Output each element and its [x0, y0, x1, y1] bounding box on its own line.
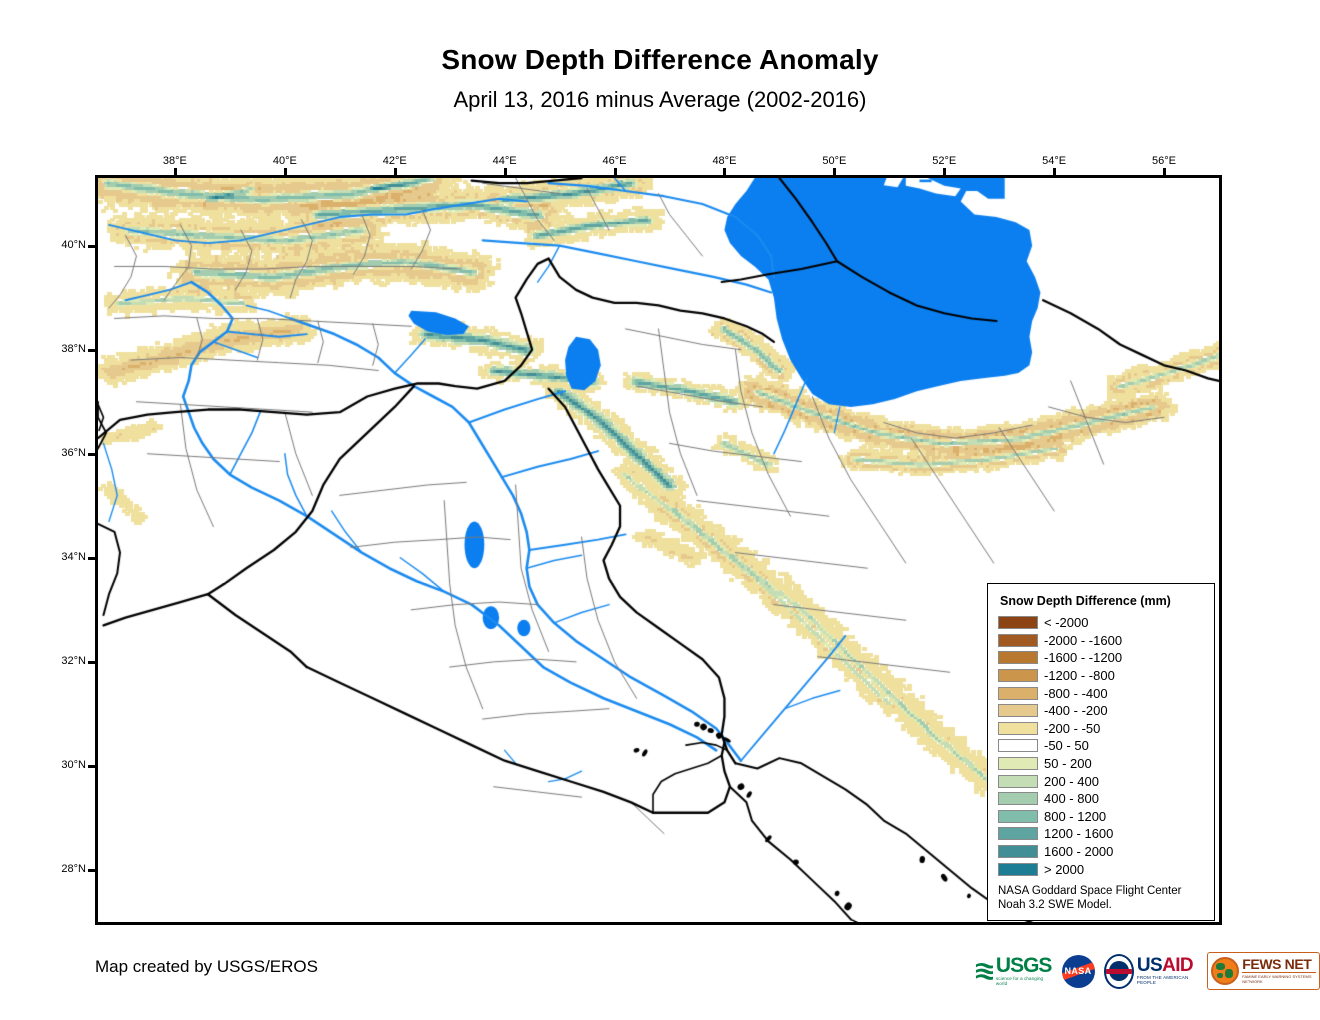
legend-label: -1200 - -800 [1044, 669, 1115, 682]
longitude-tick-label: 38°E [145, 155, 205, 167]
legend-swatch [998, 739, 1038, 752]
legend-title: Snow Depth Difference (mm) [1000, 594, 1214, 608]
usgs-tagline: science for a changing world [996, 976, 1053, 986]
legend-swatch [998, 810, 1038, 823]
legend-label: -200 - -50 [1044, 722, 1100, 735]
legend-row: 50 - 200 [998, 755, 1214, 773]
legend-label: -800 - -400 [1044, 687, 1108, 700]
legend-swatch [998, 845, 1038, 858]
fewsnet-wordmark: FEWS NET [1242, 958, 1316, 971]
usaid-us: US [1137, 955, 1162, 976]
nasa-wordmark: NASA [1064, 966, 1091, 976]
legend-row: > 2000 [998, 860, 1214, 878]
usaid-wordmark: USAID [1137, 957, 1198, 975]
legend-swatch [998, 669, 1038, 682]
legend-swatch [998, 634, 1038, 647]
longitude-tick-label: 56°E [1134, 155, 1194, 167]
longitude-tick-label: 48°E [694, 155, 754, 167]
nasa-meatball-icon: NASA [1062, 955, 1095, 988]
longitude-tick-label: 46°E [585, 155, 645, 167]
usaid-aid: AID [1162, 955, 1193, 976]
legend-source-note: NASA Goddard Space Flight Center Noah 3.… [998, 885, 1181, 912]
legend-row: -400 - -200 [998, 702, 1214, 720]
legend-swatch [998, 757, 1038, 770]
legend-row: 1600 - 2000 [998, 843, 1214, 861]
legend-row: -1200 - -800 [998, 667, 1214, 685]
legend-label: -50 - 50 [1044, 739, 1089, 752]
legend-label: 200 - 400 [1044, 775, 1099, 788]
legend-label: 400 - 800 [1044, 792, 1099, 805]
latitude-tick-label: 36°N [26, 447, 86, 459]
legend-row: 800 - 1200 [998, 808, 1214, 826]
legend-label: > 2000 [1044, 863, 1084, 876]
legend-row: 200 - 400 [998, 772, 1214, 790]
legend-row: 1200 - 1600 [998, 825, 1214, 843]
latitude-tick-label: 28°N [26, 863, 86, 875]
legend-swatch [998, 827, 1038, 840]
legend-swatch [998, 651, 1038, 664]
legend-row: -200 - -50 [998, 720, 1214, 738]
legend-note-line2: Noah 3.2 SWE Model. [998, 899, 1181, 913]
legend-label: -1600 - -1200 [1044, 651, 1122, 664]
longitude-tick-label: 50°E [804, 155, 864, 167]
longitude-tick-label: 40°E [255, 155, 315, 167]
longitude-tick-label: 44°E [475, 155, 535, 167]
usaid-logo: USAID FROM THE AMERICAN PEOPLE [1104, 954, 1199, 988]
legend-label: -2000 - -1600 [1044, 634, 1122, 647]
longitude-tick-label: 54°E [1024, 155, 1084, 167]
latitude-tick-label: 34°N [26, 551, 86, 563]
legend-label: 800 - 1200 [1044, 810, 1106, 823]
map-page: Snow Depth Difference Anomaly April 13, … [0, 0, 1320, 1020]
fewsnet-tagline: FAMINE EARLY WARNING SYSTEMS NETWORK [1242, 972, 1316, 984]
fewsnet-logo: FEWS NET FAMINE EARLY WARNING SYSTEMS NE… [1207, 952, 1320, 990]
legend-class-list: < -2000-2000 - -1600-1600 - -1200-1200 -… [998, 614, 1214, 878]
usgs-wave-icon [975, 960, 994, 982]
legend-row: -1600 - -1200 [998, 649, 1214, 667]
legend-panel: Snow Depth Difference (mm) < -2000-2000 … [987, 583, 1215, 921]
legend-row: 400 - 800 [998, 790, 1214, 808]
legend-label: 1200 - 1600 [1044, 827, 1113, 840]
legend-label: 50 - 200 [1044, 757, 1092, 770]
usgs-logo: USGS science for a changing world [975, 954, 1053, 988]
usgs-wordmark: USGS [996, 956, 1053, 976]
latitude-tick-label: 38°N [26, 343, 86, 355]
legend-swatch [998, 616, 1038, 629]
legend-label: 1600 - 2000 [1044, 845, 1113, 858]
legend-swatch [998, 863, 1038, 876]
longitude-tick-label: 42°E [365, 155, 425, 167]
legend-swatch [998, 775, 1038, 788]
page-subtitle: April 13, 2016 minus Average (2002-2016) [0, 87, 1320, 113]
legend-row: < -2000 [998, 614, 1214, 632]
latitude-tick-label: 30°N [26, 759, 86, 771]
legend-row: -2000 - -1600 [998, 632, 1214, 650]
latitude-tick-label: 40°N [26, 239, 86, 251]
longitude-tick-label: 52°E [914, 155, 974, 167]
legend-row: -800 - -400 [998, 684, 1214, 702]
legend-note-line1: NASA Goddard Space Flight Center [998, 885, 1181, 899]
legend-swatch [998, 792, 1038, 805]
fewsnet-globe-icon [1211, 957, 1239, 985]
agency-logo-strip: USGS science for a changing world NASA U… [975, 952, 1320, 990]
latitude-tick-label: 32°N [26, 655, 86, 667]
legend-swatch [998, 687, 1038, 700]
nasa-logo: NASA [1062, 954, 1095, 988]
usaid-tagline: FROM THE AMERICAN PEOPLE [1137, 975, 1198, 985]
usaid-seal-icon [1104, 954, 1134, 989]
legend-row: -50 - 50 [998, 737, 1214, 755]
legend-swatch [998, 704, 1038, 717]
page-title: Snow Depth Difference Anomaly [0, 44, 1320, 76]
legend-label: -400 - -200 [1044, 704, 1108, 717]
usaid-seal-stripe [1106, 969, 1134, 974]
legend-label: < -2000 [1044, 616, 1088, 629]
legend-swatch [998, 722, 1038, 735]
map-credit: Map created by USGS/EROS [95, 957, 318, 977]
